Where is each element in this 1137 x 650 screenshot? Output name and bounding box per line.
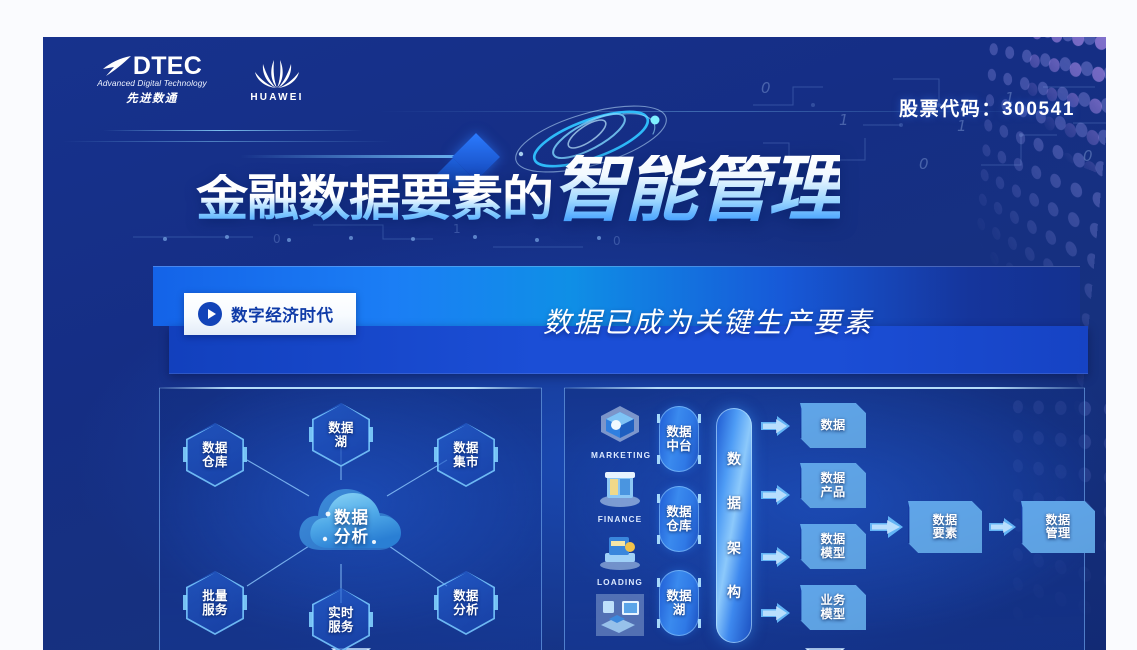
- source-caption: FINANCE: [591, 514, 649, 524]
- source-loading[interactable]: LOADING: [591, 531, 649, 587]
- source-dashboard[interactable]: [591, 593, 649, 643]
- svg-text:0: 0: [1083, 147, 1093, 165]
- center-cloud-label: 数据 分析: [295, 480, 408, 563]
- pill-label: 数据仓库: [666, 505, 691, 533]
- box-data-product[interactable]: 数据产品: [800, 463, 866, 508]
- pillar-data-architecture[interactable]: 数 据 架 构: [716, 408, 752, 643]
- pillar-char: 数: [727, 449, 741, 469]
- box-data[interactable]: 数据: [800, 403, 866, 448]
- pillar-char: 架: [727, 538, 741, 558]
- dtec-wordmark: DTEC: [133, 55, 202, 77]
- title-part-2: 智能管理: [552, 155, 840, 223]
- source-caption: LOADING: [591, 577, 649, 587]
- dtec-logo: DTEC Advanced Digital Technology 先进数通: [86, 55, 218, 106]
- huawei-logo: HUAWEI: [240, 55, 314, 103]
- arrow-right-icon: [761, 484, 791, 506]
- box-label: 数据产品: [821, 472, 846, 499]
- center-cloud[interactable]: 数据 分析: [295, 480, 408, 563]
- node-label: 数据湖: [328, 421, 353, 449]
- box-label: 数据模型: [821, 533, 846, 560]
- source-caption: MARKETING: [591, 450, 649, 460]
- title-part-1: 金融数据要素的: [196, 174, 553, 223]
- node-label: 数据分析: [453, 589, 478, 617]
- box-label: 数据: [821, 419, 846, 433]
- arrow-right-icon: [761, 602, 791, 624]
- node-data-warehouse[interactable]: 数据仓库: [186, 423, 244, 487]
- box-data-elements[interactable]: 数据要素: [908, 501, 982, 553]
- glow-streak: [63, 141, 393, 142]
- loading-3d-icon: [597, 531, 643, 571]
- box-data-model[interactable]: 数据模型: [800, 524, 866, 569]
- pill-data-midplatform[interactable]: 数据中台: [659, 406, 699, 472]
- source-finance[interactable]: FINANCE: [591, 468, 649, 524]
- huawei-petal-icon: [254, 59, 300, 89]
- node-label: 批量服务: [202, 589, 227, 617]
- server-3d-icon: [597, 468, 643, 508]
- play-icon: [198, 302, 222, 326]
- brand-logos: DTEC Advanced Digital Technology 先进数通: [86, 55, 314, 106]
- cube-3d-icon: [597, 404, 643, 444]
- section-badge[interactable]: 数字经济时代: [184, 293, 356, 335]
- node-data-analysis[interactable]: 数据分析: [437, 571, 495, 635]
- pillar-char: 构: [727, 582, 741, 602]
- source-marketing[interactable]: MARKETING: [591, 404, 649, 460]
- arrow-right-icon: [761, 546, 791, 568]
- slide-canvas: 01 01 01 010: [0, 0, 1137, 650]
- slide: 01 01 01 010: [43, 37, 1106, 650]
- node-data-lake[interactable]: 数据湖: [312, 403, 370, 467]
- glow-streak: [103, 130, 363, 131]
- arrow-mark-icon: [102, 55, 132, 77]
- svg-text:0: 0: [761, 79, 771, 97]
- dtec-chinese-name: 先进数通: [86, 90, 218, 106]
- dot-row-decoration: [163, 235, 633, 243]
- arrow-right-icon: [989, 517, 1017, 537]
- node-data-mart[interactable]: 数据集市: [437, 423, 495, 487]
- section-headline: 数据已成为关键生产要素: [543, 301, 873, 341]
- arrow-right-icon: [870, 515, 904, 539]
- dashboard-3d-icon: [595, 593, 645, 637]
- huawei-wordmark: HUAWEI: [240, 92, 314, 103]
- pill-label: 数据湖: [666, 589, 691, 617]
- node-label: 数据仓库: [202, 441, 227, 469]
- box-label: 数据管理: [1046, 514, 1071, 541]
- pill-data-warehouse[interactable]: 数据仓库: [659, 486, 699, 552]
- svg-text:1: 1: [839, 111, 849, 129]
- box-label: 业务模型: [821, 594, 846, 621]
- box-data-governance[interactable]: 数据管理: [1021, 501, 1095, 553]
- node-label: 数据集市: [453, 441, 478, 469]
- dtec-tagline: Advanced Digital Technology: [86, 78, 218, 88]
- node-batch-service[interactable]: 批量服务: [186, 571, 244, 635]
- arrow-right-icon: [761, 415, 791, 437]
- section-badge-label: 数字经济时代: [231, 302, 334, 326]
- pillar-char: 据: [727, 493, 741, 513]
- pill-label: 数据中台: [666, 425, 691, 453]
- page-title: 金融数据要素的 智能管理: [203, 155, 840, 223]
- pill-data-lake[interactable]: 数据湖: [659, 570, 699, 636]
- node-realtime-service[interactable]: 实时服务: [312, 588, 370, 650]
- node-label: 实时服务: [328, 606, 353, 634]
- svg-text:0: 0: [919, 155, 929, 173]
- box-business-model[interactable]: 业务模型: [800, 585, 866, 630]
- stock-code: 股票代码：300541: [899, 94, 1075, 121]
- box-label: 数据要素: [933, 514, 958, 541]
